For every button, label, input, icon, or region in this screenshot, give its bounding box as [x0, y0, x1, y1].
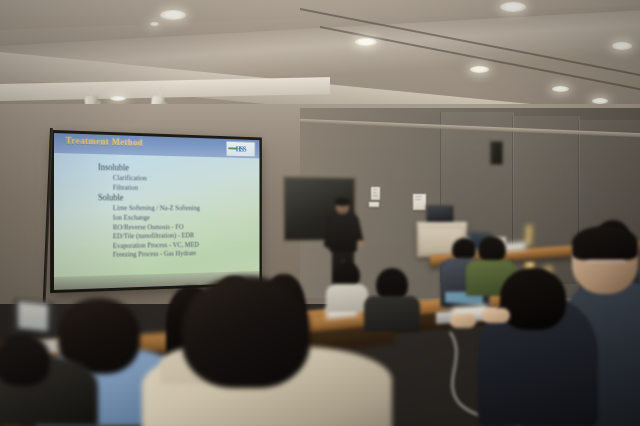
- slide-line: Evaporation Process - VC, MED: [113, 240, 255, 249]
- presenter-hand: [357, 240, 364, 247]
- logo-text: HSS: [236, 145, 246, 154]
- student-left-dark-head: [0, 334, 50, 386]
- beverage-can[interactable]: [525, 225, 533, 245]
- slide-line: Filtration: [113, 184, 255, 193]
- student-beige-sweater-head: [182, 276, 310, 388]
- slide-line: Soluble: [98, 194, 255, 203]
- presenter-hair: [335, 198, 350, 206]
- slide-line: Ion Exchange: [113, 214, 255, 221]
- presentation-slide: Treatment Method HSS Insoluble Clarifica…: [54, 133, 259, 290]
- ceiling-downlight: [470, 66, 489, 73]
- ceiling-downlight: [355, 38, 377, 46]
- slide-line: Freezing Process - Gas Hydrate: [113, 249, 255, 259]
- wall-poster: [369, 202, 379, 207]
- slide-line: Lime Softening / Na-Z Softening: [113, 205, 255, 212]
- student-hand: [482, 308, 510, 323]
- slide-line: Clarification: [113, 174, 255, 183]
- ceiling-downlight: [110, 96, 126, 101]
- eyeglasses-icon: [586, 260, 626, 270]
- ceiling-downlight: [552, 86, 569, 92]
- ceiling-downlight: [612, 42, 632, 50]
- wall-speaker: [490, 141, 503, 165]
- organization-logo: HSS: [226, 141, 256, 157]
- student-glasses-hair: [572, 226, 638, 260]
- slide-line: ED/Tile (nanofiltration) - EDR: [113, 231, 255, 240]
- laptop-screen: [18, 301, 48, 331]
- ceiling-downlight: [500, 2, 526, 12]
- student-typing-head: [500, 268, 566, 330]
- projection-screen: Treatment Method HSS Insoluble Clarifica…: [54, 133, 259, 290]
- slide-body: Insoluble Clarification Filtration Solub…: [98, 160, 255, 259]
- slide-line: RO/Reverse Osmosis - FO: [113, 222, 255, 230]
- student-hand: [450, 314, 476, 328]
- student-body: [364, 296, 420, 332]
- monitor-screen: [428, 207, 450, 220]
- student-body: [326, 284, 368, 312]
- wall-poster: [413, 194, 426, 210]
- ceiling-downlight: [150, 22, 159, 26]
- wall-poster: [371, 187, 380, 200]
- ceiling-downlight: [160, 10, 186, 20]
- lecture-hall-photo: Treatment Method HSS Insoluble Clarifica…: [0, 0, 640, 426]
